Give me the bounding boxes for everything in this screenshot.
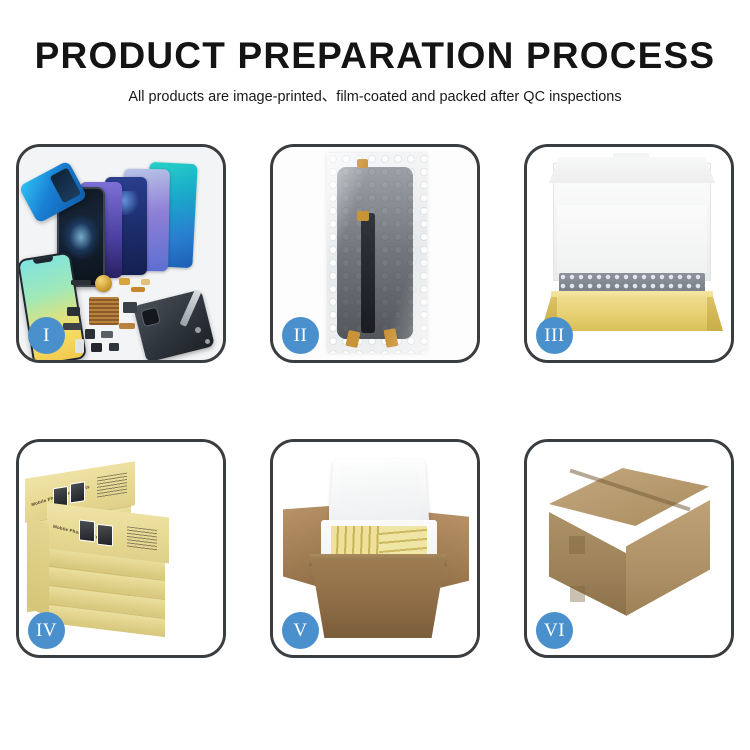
- page-header: PRODUCT PREPARATION PROCESS All products…: [0, 0, 750, 107]
- process-step-panel-4: Mobile Phone Spare Parts Mobile Phone Sp…: [16, 439, 226, 658]
- process-step-panel-2: II: [270, 144, 480, 363]
- small-part: [91, 343, 102, 352]
- carton-corner-tab: [570, 586, 585, 602]
- small-part: [119, 323, 135, 329]
- box-phone-thumbnail: [70, 481, 85, 503]
- step-badge-2: II: [282, 317, 319, 354]
- small-part: [85, 329, 95, 339]
- process-step-panel-6: VI: [524, 439, 734, 658]
- carton-corner-tab: [569, 536, 585, 554]
- small-screw: [195, 327, 201, 333]
- small-screw: [205, 339, 210, 344]
- page-subtitle: All products are image-printed、film-coat…: [0, 87, 750, 107]
- carton-body: [311, 560, 445, 638]
- process-step-panel-5: V: [270, 439, 480, 658]
- small-part: [131, 287, 145, 292]
- small-part: [101, 331, 113, 338]
- foam-lid: [328, 459, 430, 529]
- box-phone-thumbnail: [97, 524, 113, 547]
- box-phone-thumbnail: [79, 519, 95, 542]
- small-part: [75, 339, 84, 353]
- plastic-sheen: [327, 153, 427, 353]
- step-badge-6: VI: [536, 612, 573, 649]
- copper-grid-pad: [89, 297, 119, 325]
- box-lid-top-edge: [549, 157, 715, 183]
- box-stack-side-face: [27, 515, 49, 617]
- box-spec-lines: [127, 526, 157, 552]
- box-front-panel: [551, 297, 713, 331]
- page-title: PRODUCT PREPARATION PROCESS: [0, 34, 750, 78]
- step-badge-3: III: [536, 317, 573, 354]
- bubble-wrap-sleeve: [327, 153, 427, 353]
- small-part: [71, 280, 91, 285]
- step-badge-5: V: [282, 612, 319, 649]
- gold-coil-part: [95, 275, 112, 292]
- small-part: [63, 323, 81, 330]
- process-step-panel-1: I: [16, 144, 226, 363]
- process-step-grid: I II: [16, 144, 734, 658]
- process-step-panel-3: III: [524, 144, 734, 363]
- small-part: [67, 307, 80, 316]
- small-part: [109, 343, 119, 351]
- box-foam-liner: [557, 205, 707, 273]
- step-badge-1: I: [28, 317, 65, 354]
- small-part: [123, 302, 137, 313]
- small-part: [141, 279, 150, 285]
- step-badge-4: IV: [28, 612, 65, 649]
- small-part: [119, 278, 130, 285]
